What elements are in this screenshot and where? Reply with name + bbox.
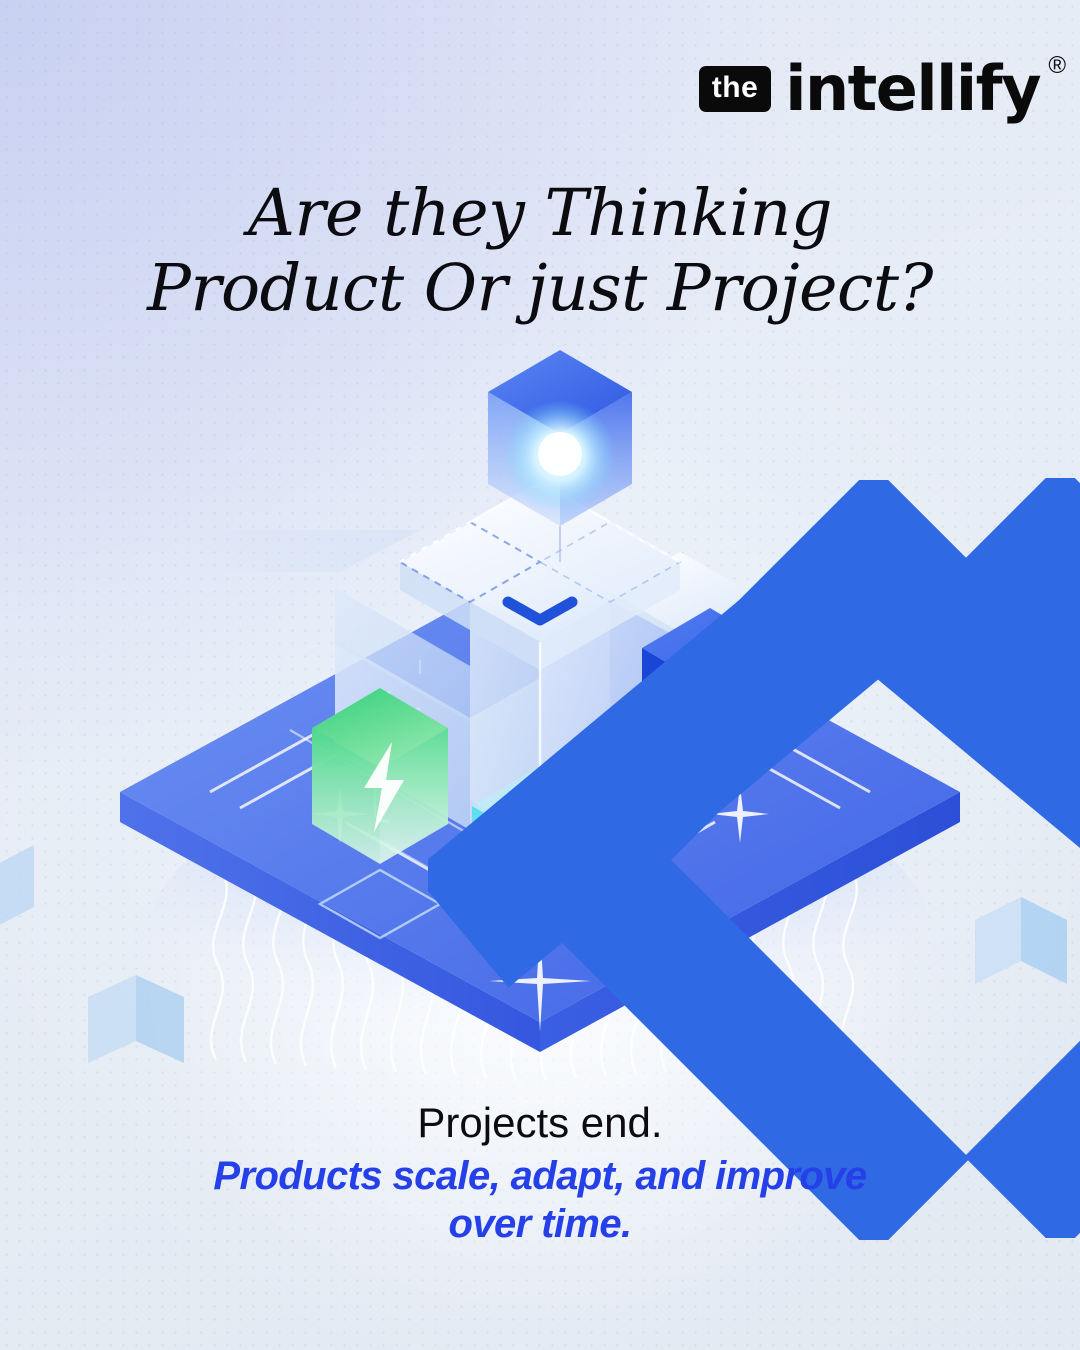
headline: Are they Thinking Product Or just Projec… [0,176,1080,327]
caption-line-3: over time. [0,1200,1080,1248]
brand-logo[interactable]: the intellify ® [699,58,1040,120]
deco-iso-shape-left-upper [0,845,102,965]
logo-prefix-badge: the [699,66,772,112]
social-post-canvas: the intellify ® Are they Thinking Produc… [0,0,1080,1350]
caption-line-1: Projects end. [0,1098,1080,1148]
caption-block: Projects end. Products scale, adapt, and… [0,1098,1080,1248]
headline-line-1: Are they Thinking [248,176,832,251]
hero-illustration [90,330,990,1090]
logo-wordmark: intellify [785,52,1040,125]
registered-trademark-icon: ® [1048,52,1066,80]
logo-wordmark-wrap: intellify ® [785,58,1040,120]
headline-line-2: Product Or just Project? [0,251,1080,326]
caption-emphasis: Products scale, adapt, and improve over … [0,1152,1080,1248]
caption-line-2: Products scale, adapt, and improve [0,1152,1080,1200]
